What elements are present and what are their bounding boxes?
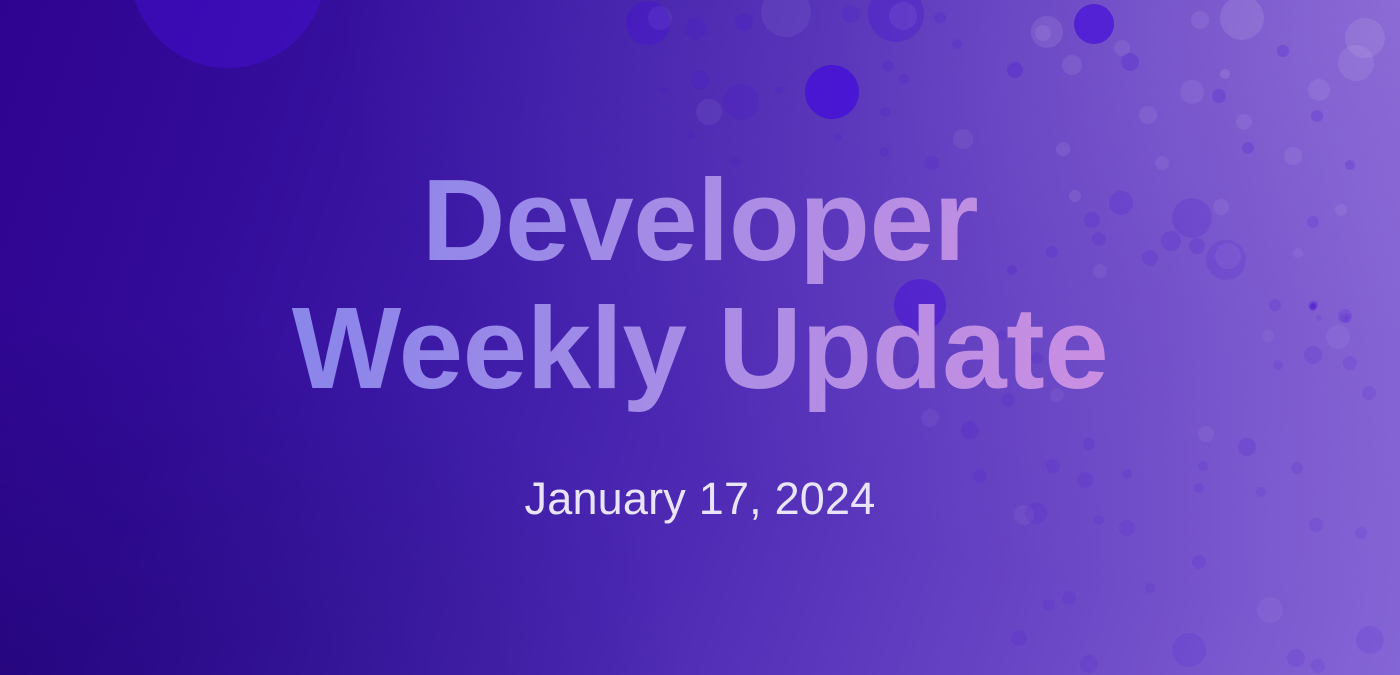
slide-content: Developer Weekly Update January 17, 2024 <box>0 0 1400 675</box>
title-line-2: Weekly Update <box>0 284 1400 412</box>
slide-canvas: Developer Weekly Update January 17, 2024 <box>0 0 1400 675</box>
slide-date: January 17, 2024 <box>0 471 1400 527</box>
title-line-1: Developer <box>0 156 1400 284</box>
page-title: Developer Weekly Update <box>0 0 1400 412</box>
